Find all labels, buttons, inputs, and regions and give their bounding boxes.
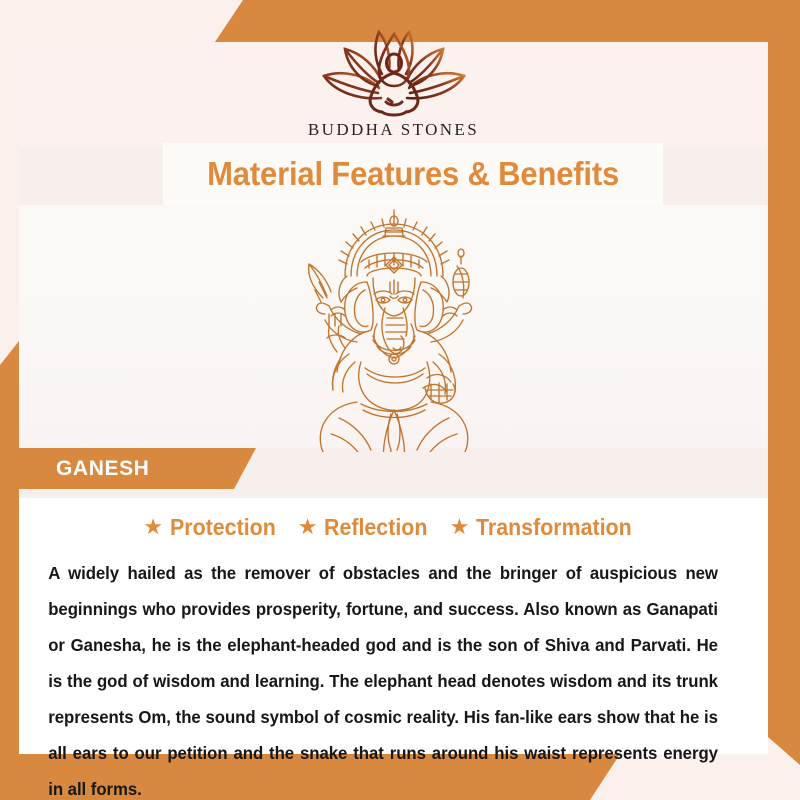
page-title: Material Features & Benefits [207,155,619,193]
ganesh-ribbon-label: GANESH [56,457,149,481]
feature-item: ★ Reflection [298,514,436,541]
ganesh-line-art-icon [269,202,519,452]
decor-band-left [0,341,19,800]
decor-band-top [215,0,800,42]
feature-label: Protection [170,514,276,541]
poster-root: BUDDHA STONES Material Features & Benefi… [0,0,800,800]
ganesh-ribbon: GANESH [0,448,256,489]
star-icon: ★ [298,516,318,538]
title-plate: Material Features & Benefits [163,143,663,205]
content-panel: ★ Protection ★ Reflection ★ Transformati… [19,498,768,754]
star-icon: ★ [450,516,470,538]
feature-label: Transformation [476,514,632,541]
feature-label: Reflection [324,514,427,541]
feature-list: ★ Protection ★ Reflection ★ Transformati… [27,514,760,541]
feature-item: ★ Transformation [450,514,644,541]
star-icon: ★ [143,516,163,538]
feature-item: ★ Protection [143,514,283,541]
brand-header: BUDDHA STONES [19,42,768,147]
brand-name: BUDDHA STONES [308,120,479,140]
lotus-meditation-logo-icon [319,26,469,118]
illustration-area [19,205,768,448]
decor-band-right [768,0,800,765]
description-text: A widely hailed as the remover of obstac… [27,555,734,800]
